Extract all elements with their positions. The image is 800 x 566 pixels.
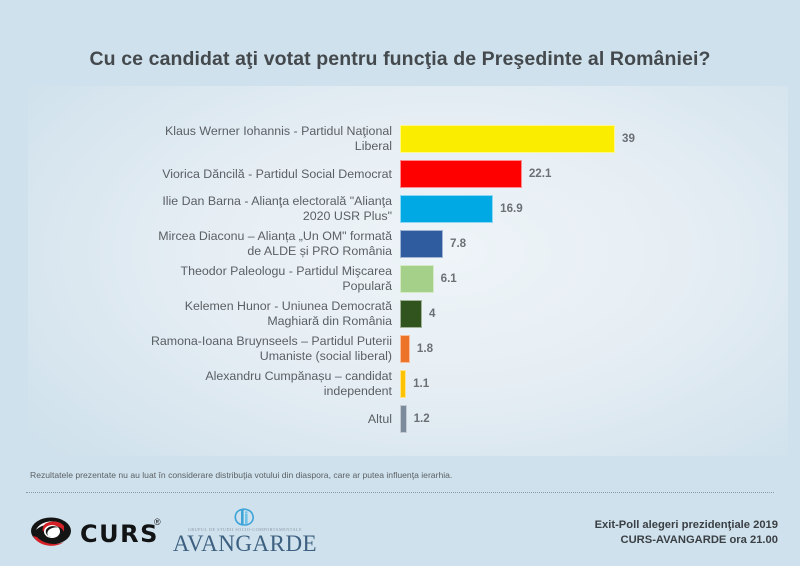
footnote: Rezultatele prezentate nu au luat în con…: [30, 470, 452, 480]
bar-bruynseels: [400, 335, 410, 363]
curs-swirl-icon: [30, 516, 74, 548]
curs-logo: CURS ®: [30, 512, 170, 552]
chart-row-iohannis: Klaus Werner Iohannis - Partidul Naţiona…: [0, 122, 800, 157]
chart-row-cumpanasu: Alexandru Cumpănașu – candidatindependen…: [0, 367, 800, 402]
bar-iohannis: [400, 125, 615, 153]
chart-row-hunor: Kelemen Hunor - Uniunea DemocratăMaghiar…: [0, 297, 800, 332]
avangarde-emblem-icon: [232, 508, 258, 528]
bar-label-cumpanasu: Alexandru Cumpănașu – candidatindependen…: [92, 369, 392, 398]
bar-label-line2-hunor: Maghiară din România: [267, 314, 392, 328]
bar-diaconu: [400, 230, 443, 258]
avangarde-wordmark: AVANGARDE: [170, 531, 320, 557]
chart-row-altul: Altul1.2: [0, 402, 800, 437]
bar-label-dancila: Viorica Dăncilă - Partidul Social Democr…: [92, 167, 392, 182]
bar-label-bruynseels: Ramona-Ioana Bruynseels – Partidul Puter…: [92, 334, 392, 363]
bar-value-barna: 16.9: [500, 202, 523, 215]
bar-value-iohannis: 39: [622, 132, 635, 145]
bar-value-paleologu: 6.1: [441, 272, 457, 285]
bar-chart-rows: Klaus Werner Iohannis - Partidul Naţiona…: [0, 122, 800, 437]
bar-altul: [400, 405, 407, 433]
footer-credit-line2: CURS-AVANGARDE ora 21.00: [595, 533, 778, 548]
page-title: Cu ce candidat aţi votat pentru funcţia …: [0, 48, 800, 71]
bar-value-dancila: 22.1: [529, 167, 552, 180]
bar-label-paleologu: Theodor Paleologu - Partidul MişcareaPop…: [92, 264, 392, 293]
bar-barna: [400, 195, 493, 223]
bar-label-hunor: Kelemen Hunor - Uniunea DemocratăMaghiar…: [92, 299, 392, 328]
curs-wordmark: CURS: [80, 520, 159, 548]
bar-hunor: [400, 300, 422, 328]
footer-credit-line1: Exit-Poll alegeri prezidenţiale 2019: [595, 518, 778, 533]
bar-label-iohannis: Klaus Werner Iohannis - Partidul Naţiona…: [92, 124, 392, 153]
bar-label-line2-bruynseels: Umaniste (social liberal): [260, 349, 392, 363]
bar-value-hunor: 4: [429, 307, 435, 320]
footer-divider: [26, 492, 774, 493]
poll-result-poster: Cu ce candidat aţi votat pentru funcţia …: [0, 0, 800, 566]
bar-label-line2-paleologu: Populară: [342, 279, 392, 293]
bar-label-line2-iohannis: Liberal: [355, 139, 392, 153]
chart-row-diaconu: Mircea Diaconu – Alianța „Un OM" formată…: [0, 227, 800, 262]
bar-value-diaconu: 7.8: [450, 237, 466, 250]
bar-label-diaconu: Mircea Diaconu – Alianța „Un OM" formată…: [92, 229, 392, 258]
bar-value-bruynseels: 1.8: [417, 342, 433, 355]
chart-row-barna: Ilie Dan Barna - Alianţa electorală "Ali…: [0, 192, 800, 227]
bar-dancila: [400, 160, 522, 188]
chart-row-bruynseels: Ramona-Ioana Bruynseels – Partidul Puter…: [0, 332, 800, 367]
bar-value-cumpanasu: 1.1: [413, 377, 429, 390]
chart-row-paleologu: Theodor Paleologu - Partidul MişcareaPop…: [0, 262, 800, 297]
bar-label-altul: Altul: [92, 412, 392, 427]
bar-label-line2-cumpanasu: independent: [324, 384, 392, 398]
bar-label-line2-diaconu: de ALDE și PRO România: [247, 244, 392, 258]
bar-value-altul: 1.2: [414, 412, 430, 425]
bar-label-line2-barna: 2020 USR Plus": [303, 209, 392, 223]
curs-registered-mark: ®: [154, 517, 161, 527]
bar-cumpanasu: [400, 370, 406, 398]
avangarde-logo: GRUPUL DE STUDII SOCIO-COMPORTAMENTALE A…: [170, 508, 320, 554]
bar-paleologu: [400, 265, 434, 293]
footer-credit: Exit-Poll alegeri prezidenţiale 2019 CUR…: [595, 518, 778, 548]
bar-label-barna: Ilie Dan Barna - Alianţa electorală "Ali…: [92, 194, 392, 223]
chart-row-dancila: Viorica Dăncilă - Partidul Social Democr…: [0, 157, 800, 192]
